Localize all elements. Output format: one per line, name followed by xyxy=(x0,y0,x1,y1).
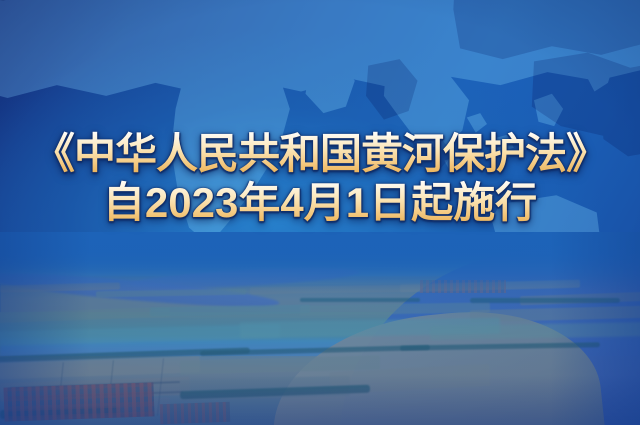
headline-line-1: 《中华人民共和国黄河保护法》 xyxy=(0,131,640,176)
photo-content xyxy=(0,232,640,425)
headline-block: 《中华人民共和国黄河保护法》 自2023年4月1日起施行 xyxy=(0,131,640,226)
headline-line-2: 自2023年4月1日起施行 xyxy=(0,180,640,225)
poster-root: 《中华人民共和国黄河保护法》 自2023年4月1日起施行 xyxy=(0,0,640,425)
aerial-photo-yellow-river xyxy=(0,232,640,425)
photo-edge-fade xyxy=(0,232,640,425)
